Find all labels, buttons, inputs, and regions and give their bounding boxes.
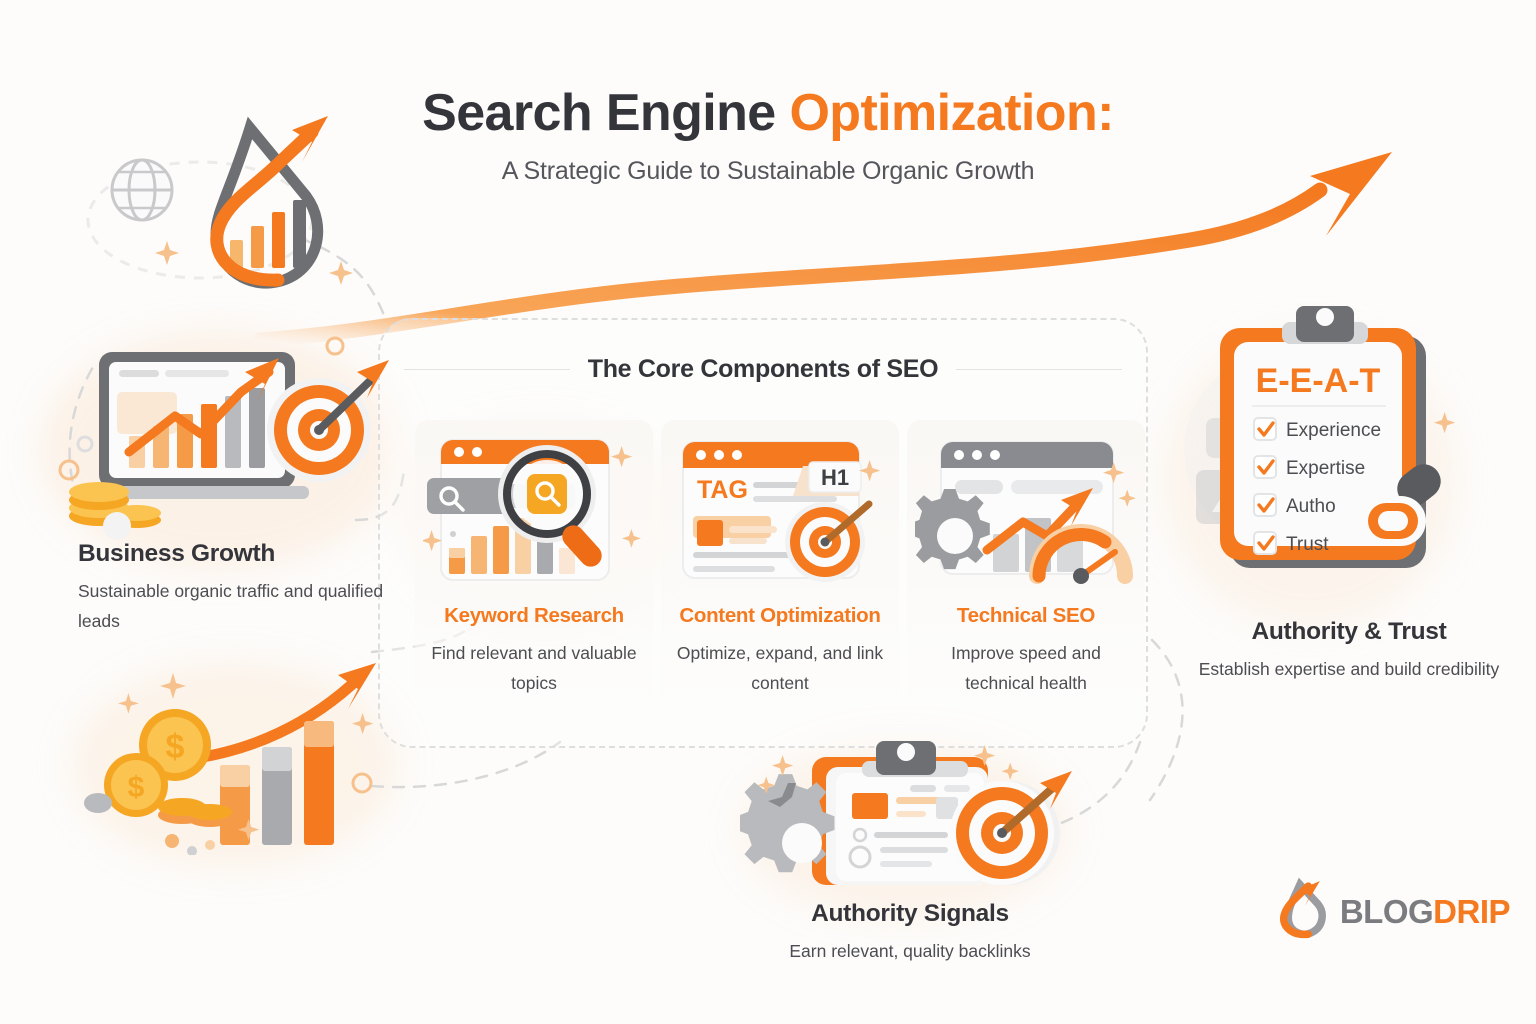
logo-wordmark: BLOGDRIP xyxy=(1340,895,1510,928)
eeat-item: Experience xyxy=(1254,418,1381,441)
svg-text:Trust: Trust xyxy=(1286,534,1329,555)
svg-text:$: $ xyxy=(166,728,185,766)
eeat-clipboard-illustration: E-E-A-T Experience Expertise Autho Trust xyxy=(1160,300,1470,615)
card-content-optimization-title: Content Optimization xyxy=(669,604,891,628)
authority-signals-desc: Earn relevant, quality backlinks xyxy=(715,936,1105,966)
title-main: Search Engine xyxy=(422,84,789,142)
svg-text:$: $ xyxy=(128,771,145,804)
eeat-item: Trust xyxy=(1254,532,1329,555)
eeat-item: Expertise xyxy=(1254,456,1365,479)
logo-text-secondary: DRIP xyxy=(1433,893,1510,930)
card-technical-seo-title: Technical SEO xyxy=(915,604,1137,628)
eeat-heading: E-E-A-T xyxy=(1256,362,1381,400)
authority-trust-title: Authority & Trust xyxy=(1190,618,1508,646)
svg-text:Expertise: Expertise xyxy=(1286,458,1365,479)
authority-signals-illustration xyxy=(740,735,1085,900)
section-authority-signals: Authority Signals Earn relevant, quality… xyxy=(715,900,1105,966)
infographic-canvas: Search Engine Optimization: A Strategic … xyxy=(0,0,1536,1024)
business-growth-illustration xyxy=(55,330,410,545)
browser-search-magnifier-icon xyxy=(423,426,645,598)
card-keyword-research-desc: Find relevant and valuable topics xyxy=(423,638,645,699)
authority-trust-desc: Establish expertise and build credibilit… xyxy=(1190,654,1508,684)
gear-icon xyxy=(915,489,990,569)
core-components-header: The Core Components of SEO xyxy=(378,355,1148,384)
svg-text:Experience: Experience xyxy=(1286,420,1381,441)
card-technical-seo-desc: Improve speed and technical health xyxy=(915,638,1137,699)
core-components-title: The Core Components of SEO xyxy=(588,355,939,384)
mini-bar-chart xyxy=(230,200,306,268)
card-technical-seo[interactable]: Technical SEO Improve speed and technica… xyxy=(907,420,1145,713)
divider xyxy=(404,369,570,370)
content-optimization-art: TAG H1 xyxy=(669,426,891,598)
eeat-item: Autho xyxy=(1254,494,1336,517)
technical-seo-art xyxy=(915,426,1137,598)
clipboard-clip xyxy=(1282,306,1368,344)
tag-label: TAG xyxy=(697,476,748,504)
droplet-arrow-logo-icon xyxy=(1275,873,1330,949)
browser-tag-target-icon: TAG H1 xyxy=(669,426,891,598)
card-content-optimization[interactable]: TAG H1 xyxy=(661,420,899,713)
core-components-cards: Keyword Research Find relevant and valua… xyxy=(415,420,1155,713)
coins-growth-illustration: $ $ xyxy=(70,655,400,855)
business-growth-desc: Sustainable organic traffic and qualifie… xyxy=(78,576,408,636)
blogdrip-logo[interactable]: BLOGDRIP xyxy=(1275,865,1510,957)
browser-gear-gauge-icon xyxy=(915,426,1137,598)
page-header: Search Engine Optimization: A Strategic … xyxy=(0,86,1536,186)
h1-badge: H1 xyxy=(793,462,861,496)
section-business-growth: Business Growth Sustainable organic traf… xyxy=(78,540,408,636)
divider xyxy=(956,369,1122,370)
authority-signals-title: Authority Signals xyxy=(715,900,1105,928)
title-highlight: Optimization: xyxy=(789,84,1113,142)
page-subtitle: A Strategic Guide to Sustainable Organic… xyxy=(0,157,1536,186)
keyword-research-art xyxy=(423,426,645,598)
section-authority-trust: Authority & Trust Establish expertise an… xyxy=(1190,618,1508,684)
page-title: Search Engine Optimization: xyxy=(0,86,1536,141)
card-keyword-research[interactable]: Keyword Research Find relevant and valua… xyxy=(415,420,653,713)
business-growth-title: Business Growth xyxy=(78,540,408,568)
gear-icon xyxy=(740,774,835,872)
card-keyword-research-title: Keyword Research xyxy=(423,604,645,628)
clipboard-eeat-icon: E-E-A-T Experience Expertise Autho Trust xyxy=(1160,300,1470,615)
svg-text:Autho: Autho xyxy=(1286,496,1336,517)
card-content-optimization-desc: Optimize, expand, and link content xyxy=(669,638,891,699)
svg-text:H1: H1 xyxy=(821,465,849,490)
logo-text-primary: BLOG xyxy=(1340,893,1433,930)
